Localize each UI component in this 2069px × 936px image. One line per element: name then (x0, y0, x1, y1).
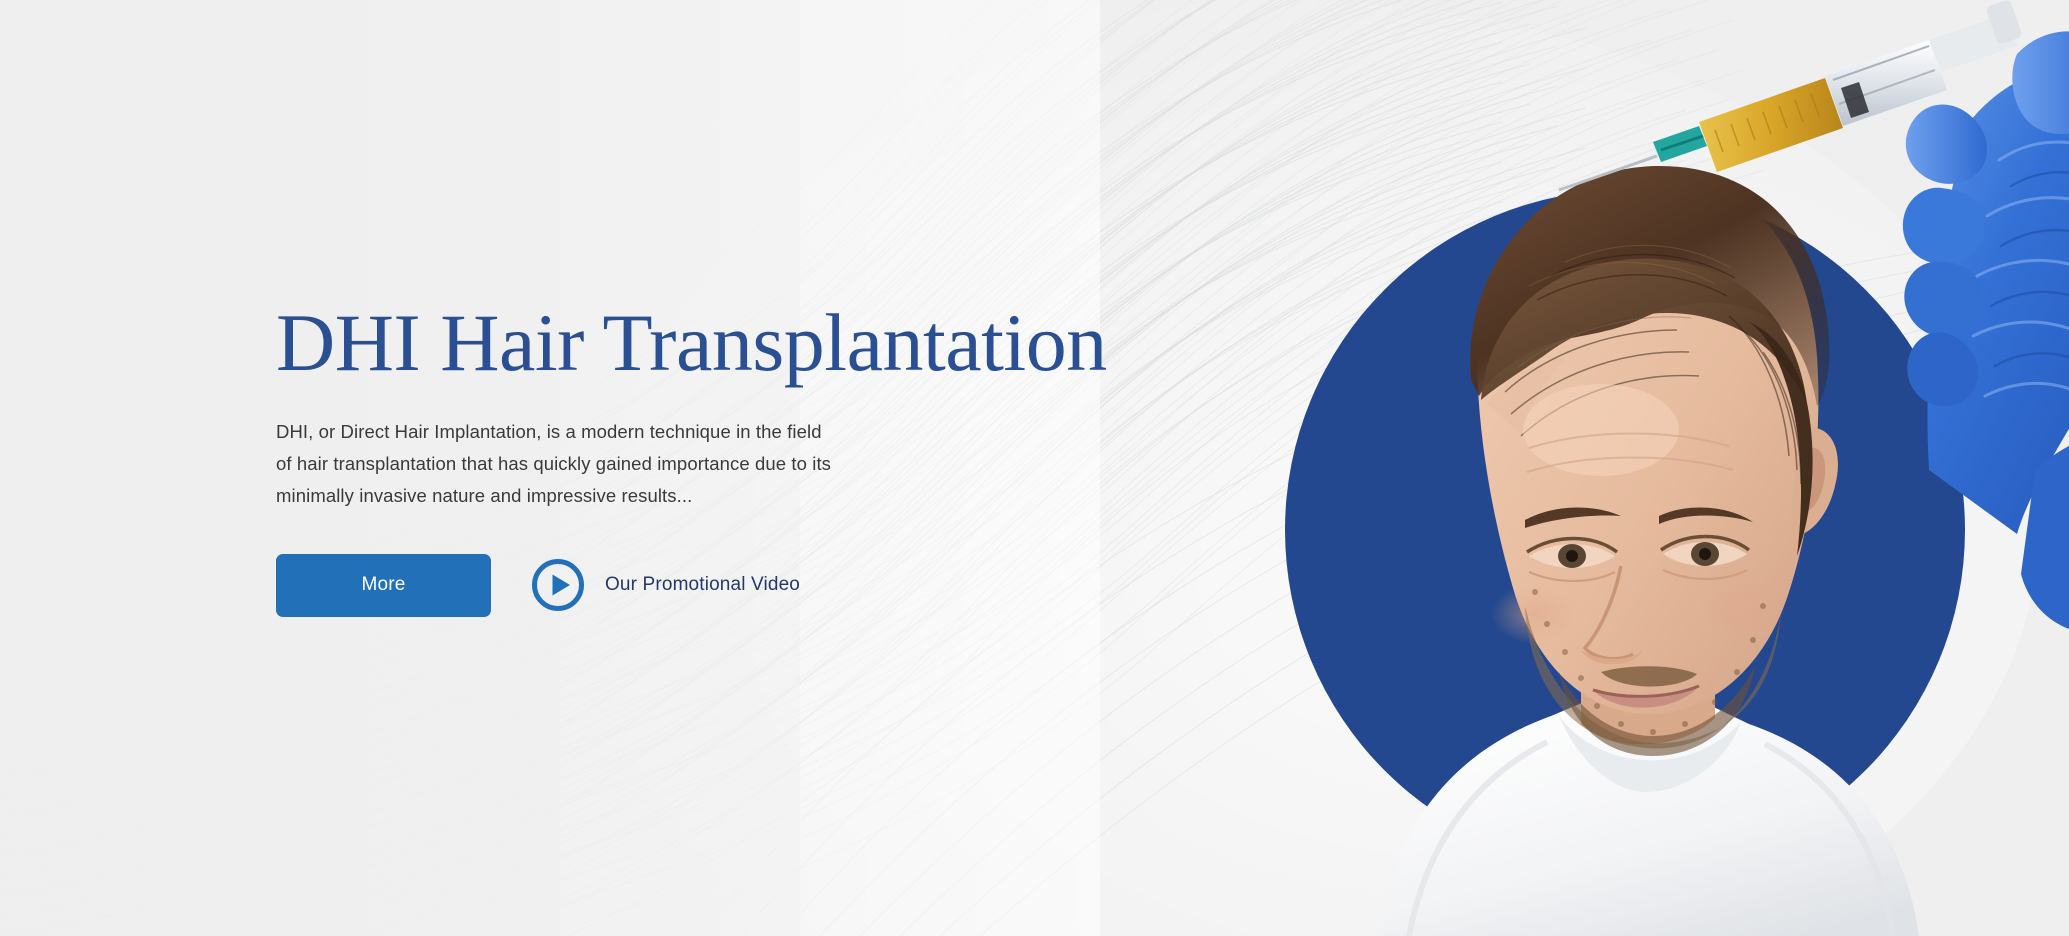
hero-visual (1229, 0, 2069, 936)
more-button[interactable]: More (276, 554, 491, 617)
hero-section: DHI Hair Transplantation DHI, or Direct … (0, 0, 2069, 936)
promotional-video-label: Our Promotional Video (605, 574, 800, 596)
play-icon[interactable] (531, 558, 585, 612)
promotional-video-link[interactable]: Our Promotional Video (531, 558, 800, 612)
hero-description: DHI, or Direct Hair Implantation, is a m… (276, 416, 836, 511)
cta-row: More Our Promotional Video (276, 554, 976, 617)
hero-content: DHI Hair Transplantation DHI, or Direct … (276, 300, 976, 617)
page-title: DHI Hair Transplantation (276, 300, 976, 386)
